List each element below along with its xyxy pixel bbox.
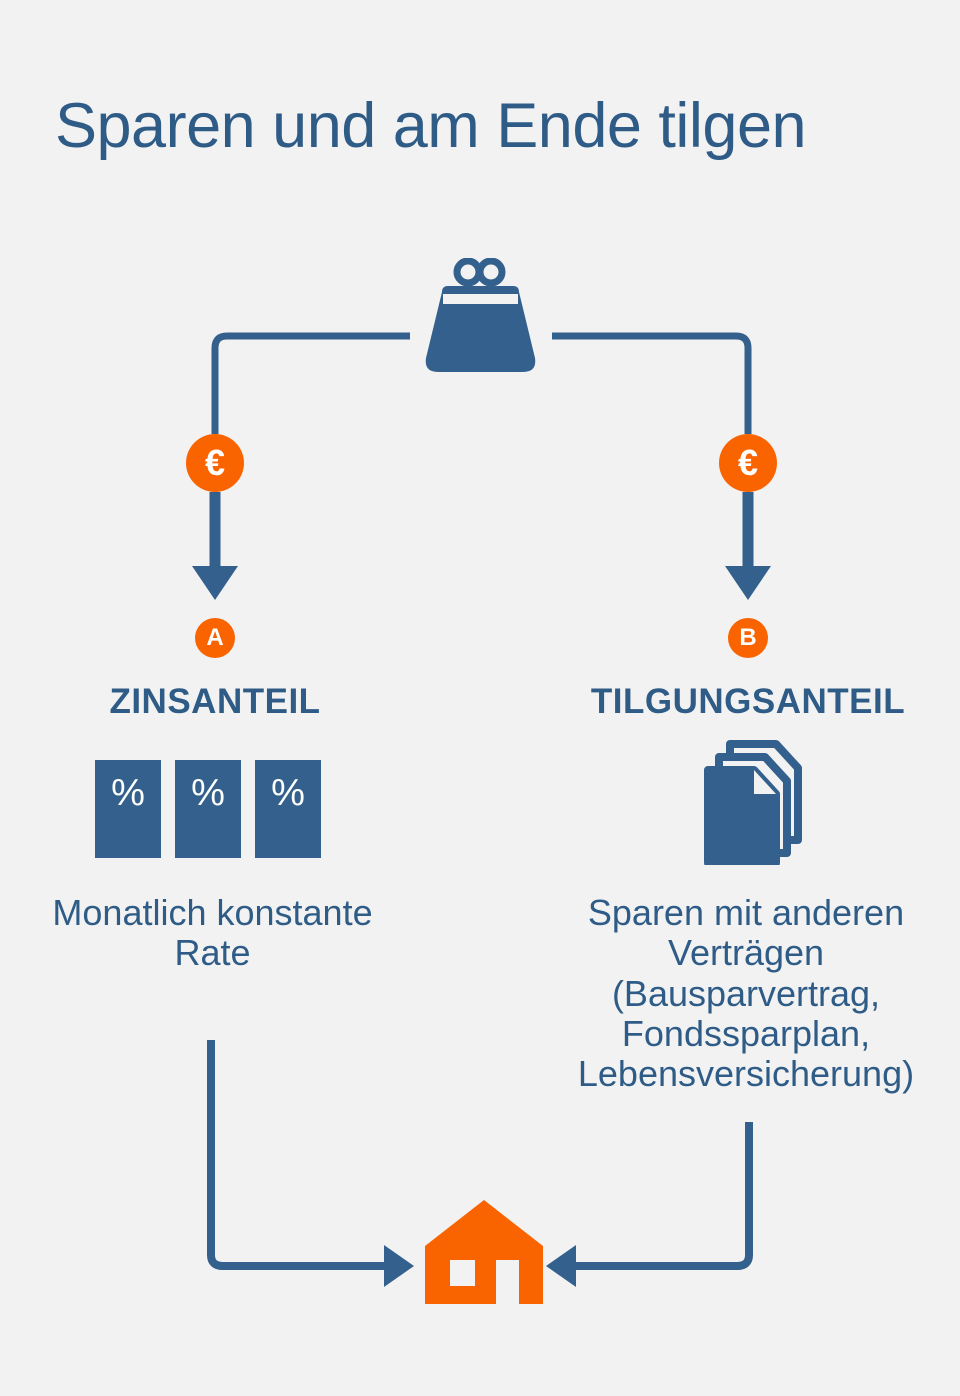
euro-badge-right: € [719,434,777,492]
column-heading-zinsanteil: ZINSANTEIL [15,682,415,722]
page-title: Sparen und am Ende tilgen [55,95,915,158]
description-zinsanteil: Monatlich konstante Rate [35,893,390,974]
connector-right-to-house [576,1122,749,1266]
infographic-canvas: Sparen und am Ende tilgen € € A B ZINSAN… [0,0,960,1396]
arrow-head-right-to-house [546,1245,576,1287]
connector-left-to-house [211,1040,384,1266]
percent-card-2: % [175,760,241,858]
connector-wallet-to-right-euro [552,336,748,434]
description-tilgungsanteil: Sparen mit anderen Verträgen (Bausparver… [540,893,952,1095]
house-window [450,1260,475,1286]
connector-wallet-to-left-euro [215,336,410,434]
wallet-icon [418,258,543,373]
column-heading-tilgungsanteil: TILGUNGSANTEIL [548,682,948,722]
wallet-clasp-right-icon [480,261,502,283]
house-icon [425,1200,543,1304]
house-body [425,1200,543,1304]
arrow-head-right-down [725,566,771,600]
percent-card-3: % [255,760,321,858]
documents-icon [703,740,803,865]
wallet-clasp-left-icon [457,261,479,283]
badge-b: B [728,618,768,658]
arrow-head-left-down [192,566,238,600]
percent-card-group: % % % [95,760,321,858]
euro-badge-left: € [186,434,244,492]
house-door [496,1260,519,1304]
badge-a: A [195,618,235,658]
percent-card-1: % [95,760,161,858]
wallet-rim [443,294,518,304]
arrow-head-left-to-house [384,1245,414,1287]
